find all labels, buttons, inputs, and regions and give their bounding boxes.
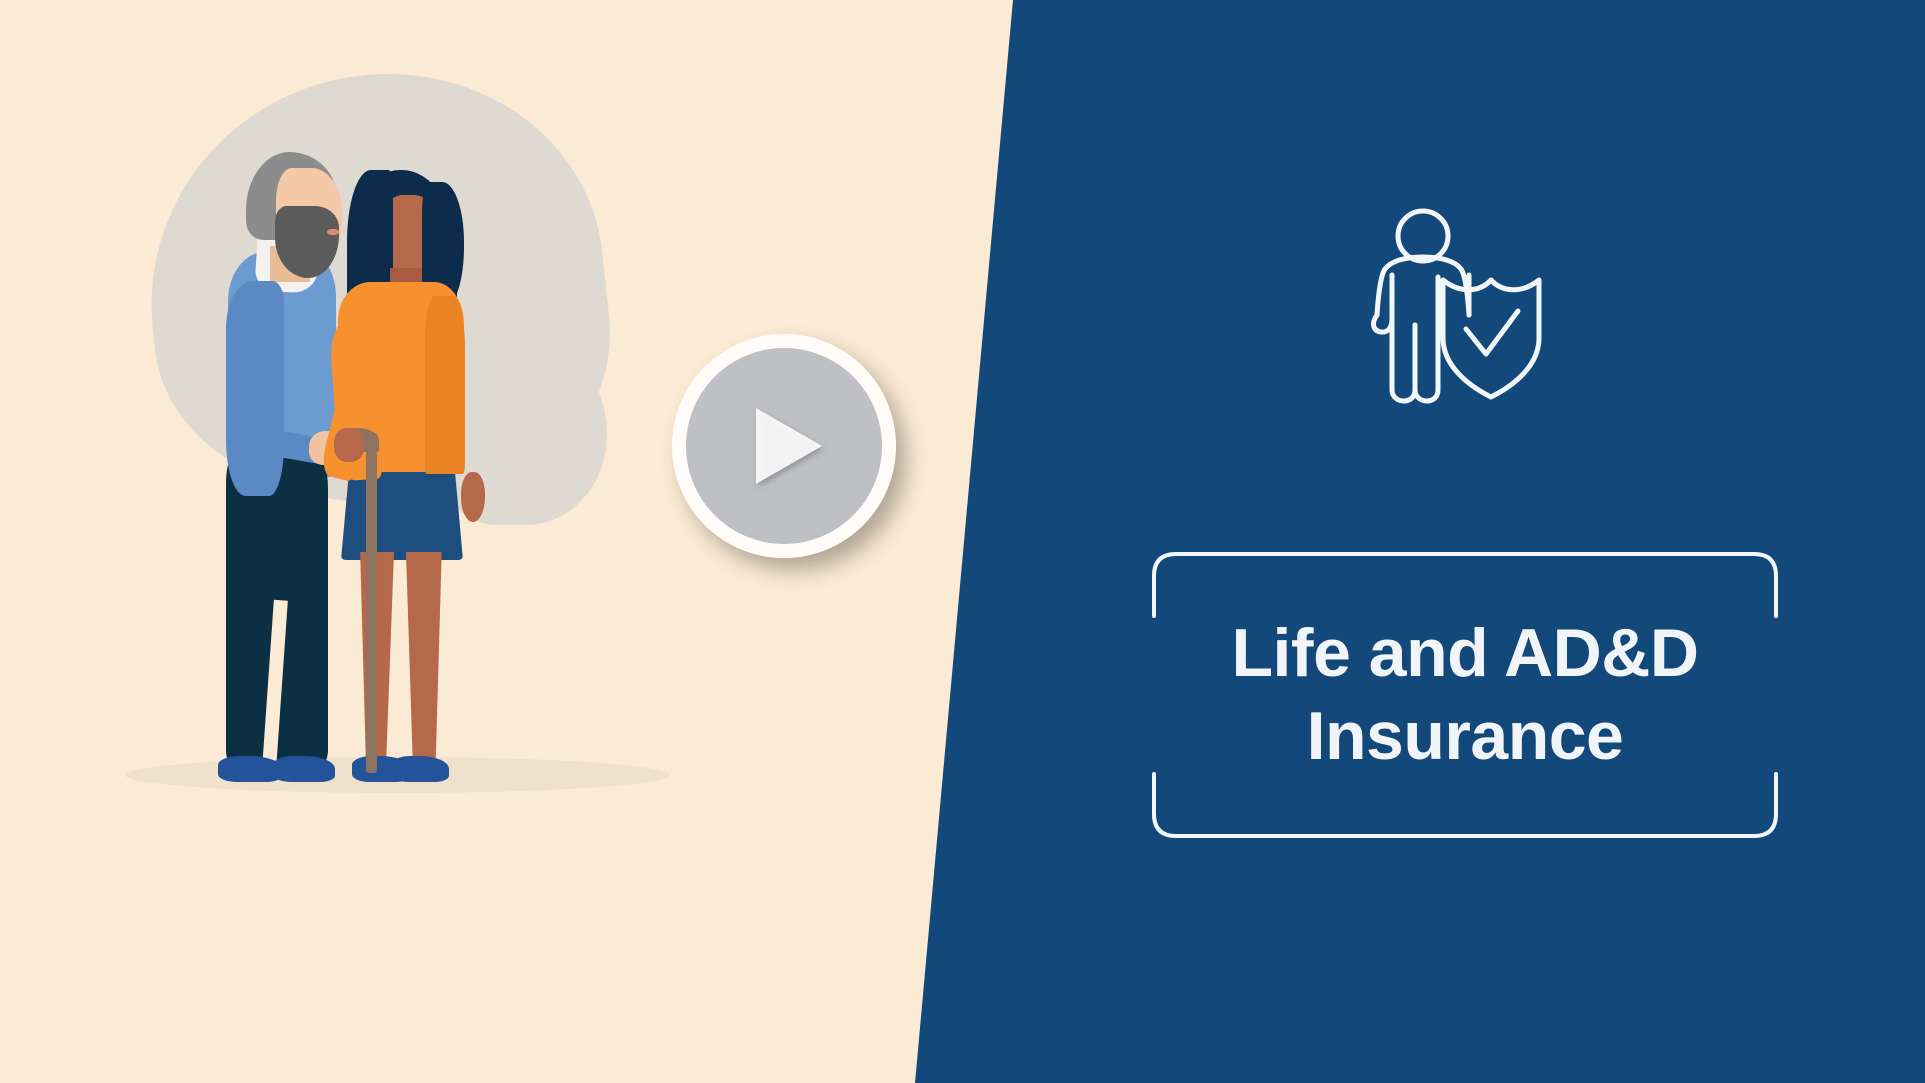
page-title: Life and AD&D Insurance <box>1150 550 1780 840</box>
woman-leg-right <box>406 552 444 764</box>
woman-hand-left <box>334 428 364 462</box>
man-shoe-right <box>273 756 335 782</box>
woman-hand-right <box>461 472 485 522</box>
play-button[interactable] <box>672 334 896 558</box>
man-arm <box>226 281 284 496</box>
walking-cane <box>366 440 377 773</box>
title-frame: Life and AD&D Insurance <box>1150 550 1780 840</box>
video-thumbnail: Life and AD&D Insurance <box>0 0 1925 1083</box>
person-shield-check-icon <box>1355 205 1570 405</box>
woman-shoe-right <box>391 756 449 782</box>
woman-top-shadow <box>425 296 465 474</box>
man-mouth <box>327 229 339 235</box>
play-icon <box>756 408 822 484</box>
